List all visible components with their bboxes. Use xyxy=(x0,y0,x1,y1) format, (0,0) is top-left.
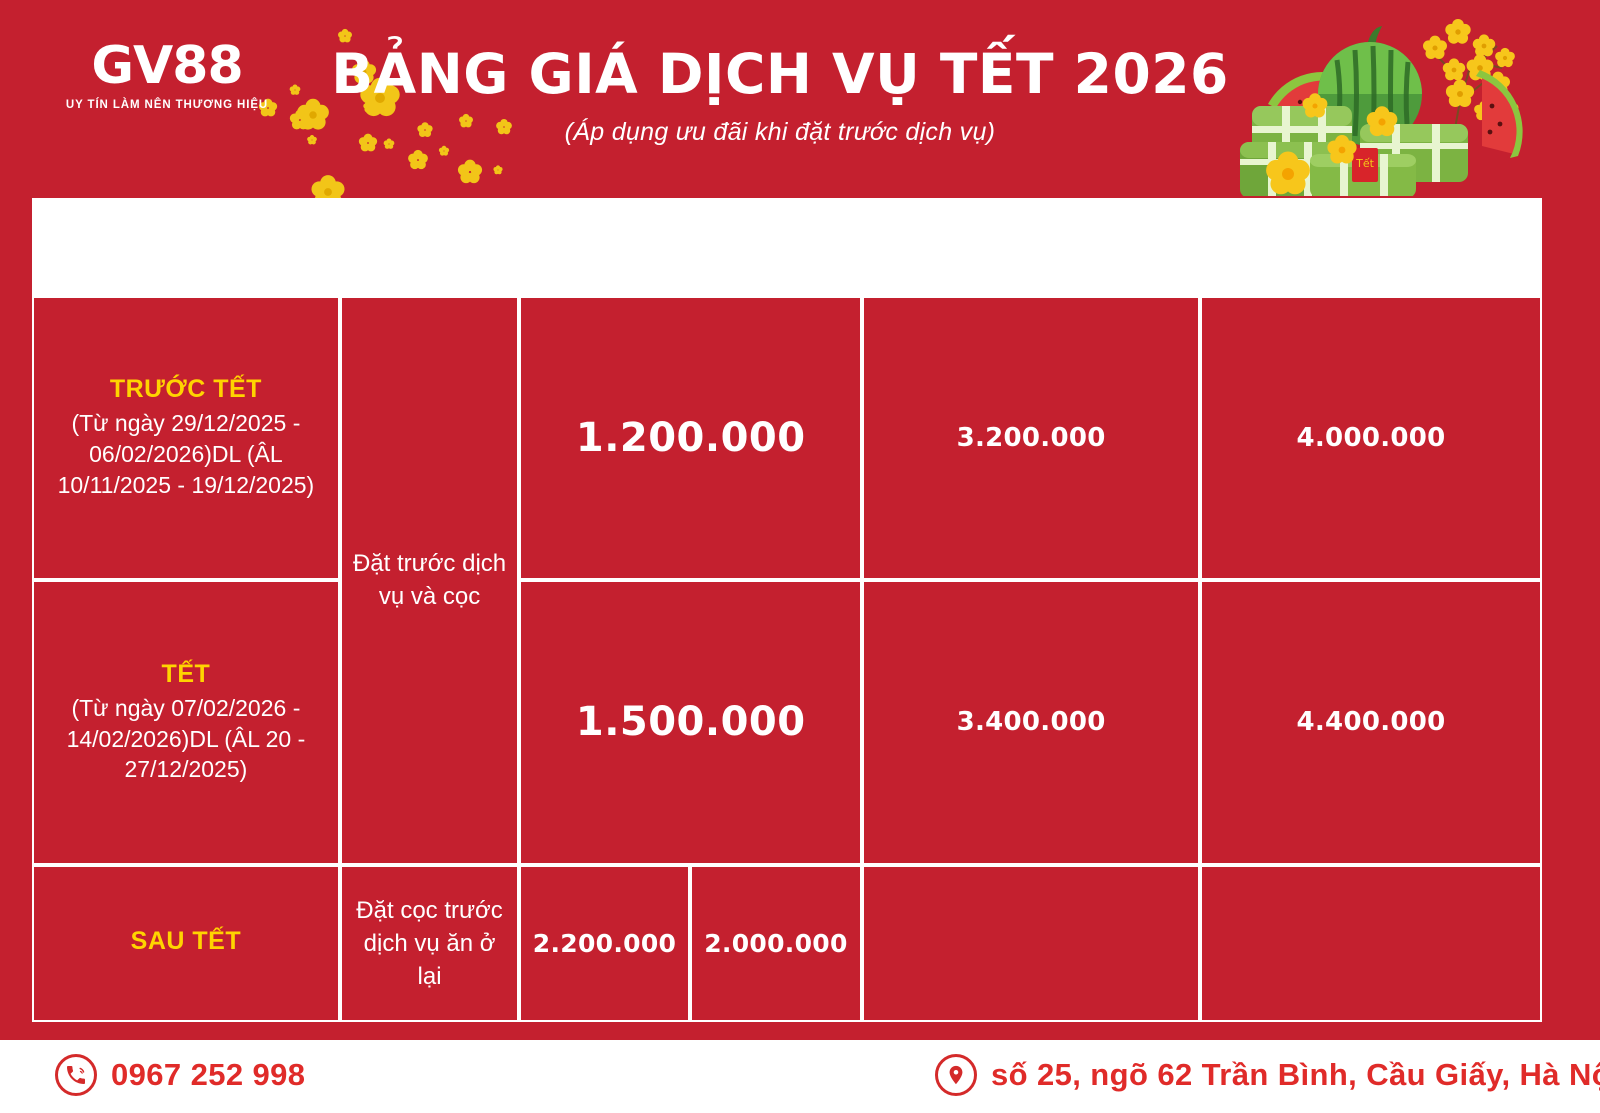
period-label: TRƯỚC TẾT xyxy=(42,375,330,404)
location-pin-icon xyxy=(935,1054,977,1096)
header-row: Thời gian Phương thức Phí khách mới Phí … xyxy=(32,198,1542,296)
logo-tagline: UY TÍN LÀM NÊN THƯƠNG HIỆU xyxy=(52,99,282,111)
cell-method-dat-truoc: Đặt trước dịch vụ và cọc xyxy=(340,296,519,865)
poster-canvas: GV88 UY TÍN LÀM NÊN THƯƠNG HIỆU BẢNG GIÁ… xyxy=(0,0,1600,1040)
table-row-tet: TẾT (Từ ngày 07/02/2026 - 14/02/2026)DL … xyxy=(32,580,1542,864)
cell-price-merged-tet: 1.500.000 xyxy=(519,580,862,864)
cell-price-khach-moi-sau-tet: 2.200.000 xyxy=(519,865,689,1022)
contact-address[interactable]: số 25, ngõ 62 Trần Bình, Cầu Giấy, Hà Nộ… xyxy=(935,1054,1600,1096)
period-label: TẾT xyxy=(42,660,330,689)
contact-phone[interactable]: 0967 252 998 xyxy=(55,1054,305,1096)
column-header-thoi-gian: Thời gian xyxy=(32,198,340,296)
logo-wordmark: GV88 xyxy=(52,40,282,92)
cell-method-dat-coc: Đặt cọc trước dịch vụ ăn ở lại xyxy=(340,865,519,1022)
cell-combo1-tet: 3.400.000 xyxy=(862,580,1200,864)
column-header-phi-khach-quen: Phí khách quen xyxy=(690,198,862,296)
cell-price-khach-quen-sau-tet: 2.000.000 xyxy=(690,865,862,1022)
column-header-combo-1-thang: Phí combo (Tết + Ăn ở lại) BẢO HÀNH 1 TH… xyxy=(862,198,1200,296)
cell-combo3-truoc-tet: 4.000.000 xyxy=(1200,296,1542,580)
tet-illustration: Tết xyxy=(1192,6,1592,196)
svg-text:Tết: Tết xyxy=(1355,157,1374,170)
phone-icon xyxy=(55,1054,97,1096)
phone-number: 0967 252 998 xyxy=(111,1057,305,1093)
cell-combo3-sau-tet xyxy=(1200,865,1542,1022)
cell-combo1-truoc-tet: 3.200.000 xyxy=(862,296,1200,580)
cell-period-truoc-tet: TRƯỚC TẾT (Từ ngày 29/12/2025 - 06/02/20… xyxy=(32,296,340,580)
column-header-combo-3-thang: Phí combo (Tết + Ăn ở lại) BẢO HÀNH 3 TH… xyxy=(1200,198,1542,296)
price-table: Thời gian Phương thức Phí khách mới Phí … xyxy=(32,198,1542,1022)
cell-period-tet: TẾT (Từ ngày 07/02/2026 - 14/02/2026)DL … xyxy=(32,580,340,864)
period-dates: (Từ ngày 29/12/2025 - 06/02/2026)DL (ÂL … xyxy=(42,408,330,500)
table-header: Thời gian Phương thức Phí khách mới Phí … xyxy=(32,198,1542,296)
period-dates: (Từ ngày 07/02/2026 - 14/02/2026)DL (ÂL … xyxy=(42,693,330,785)
cell-combo1-sau-tet xyxy=(862,865,1200,1022)
page-title: BẢNG GIÁ DỊCH VỤ TẾT 2026 xyxy=(330,44,1230,106)
column-header-phi-khach-moi: Phí khách mới xyxy=(519,198,689,296)
column-header-phuong-thuc: Phương thức xyxy=(340,198,519,296)
table-row-sau-tet: SAU TẾT Đặt cọc trước dịch vụ ăn ở lại 2… xyxy=(32,865,1542,1022)
cell-period-sau-tet: SAU TẾT xyxy=(32,865,340,1022)
table-row-truoc-tet: TRƯỚC TẾT (Từ ngày 29/12/2025 - 06/02/20… xyxy=(32,296,1542,580)
title-block: BẢNG GIÁ DỊCH VỤ TẾT 2026 (Áp dụng ưu đã… xyxy=(330,44,1230,147)
banh-chung-watermelon-blossom-icon: Tết xyxy=(1192,6,1592,196)
cell-combo3-tet: 4.400.000 xyxy=(1200,580,1542,864)
address-text: số 25, ngõ 62 Trần Bình, Cầu Giấy, Hà Nộ… xyxy=(991,1057,1600,1093)
brand-logo: GV88 UY TÍN LÀM NÊN THƯƠNG HIỆU xyxy=(52,40,282,111)
cell-price-merged-truoc-tet: 1.200.000 xyxy=(519,296,862,580)
period-label: SAU TẾT xyxy=(42,927,330,956)
table-body: TRƯỚC TẾT (Từ ngày 29/12/2025 - 06/02/20… xyxy=(32,296,1542,1022)
poster-header: GV88 UY TÍN LÀM NÊN THƯƠNG HIỆU BẢNG GIÁ… xyxy=(0,0,1600,196)
poster-footer: 0967 252 998 số 25, ngõ 62 Trần Bình, Cầ… xyxy=(0,1040,1600,1113)
page-subtitle: (Áp dụng ưu đãi khi đặt trước dịch vụ) xyxy=(330,118,1230,147)
